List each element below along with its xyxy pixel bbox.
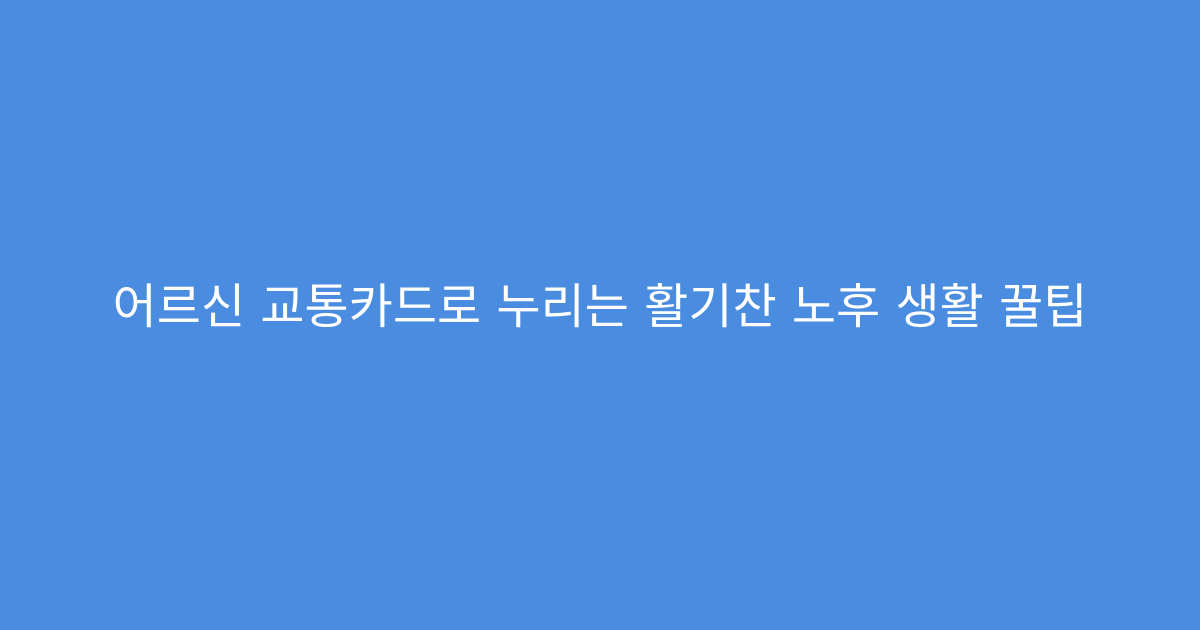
- banner-title: 어르신 교통카드로 누리는 활기찬 노후 생활 꿀팁: [113, 277, 1088, 337]
- banner-canvas: 어르신 교통카드로 누리는 활기찬 노후 생활 꿀팁: [0, 0, 1200, 630]
- banner-content: 어르신 교통카드로 누리는 활기찬 노후 생활 꿀팁: [40, 277, 1160, 337]
